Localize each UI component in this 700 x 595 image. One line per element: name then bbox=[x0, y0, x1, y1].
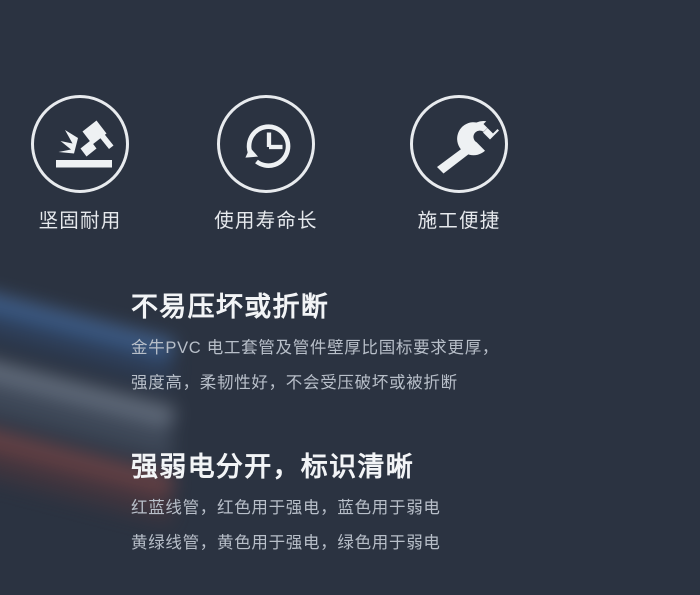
text-block-wire-separation: 强弱电分开，标识清晰 红蓝线管，红色用于强电，蓝色用于弱电 黄绿线管，黄色用于强… bbox=[131, 452, 651, 552]
feature-label: 施工便捷 bbox=[379, 212, 539, 232]
block-title: 强弱电分开，标识清晰 bbox=[131, 452, 651, 484]
feature-label: 使用寿命长 bbox=[186, 212, 346, 232]
feature-label: 坚固耐用 bbox=[0, 212, 160, 232]
clock-history-icon bbox=[217, 95, 315, 193]
block-body-line: 金牛PVC 电工套管及管件壁厚比国标要求更厚， bbox=[131, 340, 651, 357]
block-body-line: 红蓝线管，红色用于强电，蓝色用于弱电 bbox=[131, 500, 651, 517]
hammer-strike-icon bbox=[31, 95, 129, 193]
block-body-line: 强度高，柔韧性好，不会受压破坏或被折断 bbox=[131, 375, 651, 392]
block-title: 不易压坏或折断 bbox=[131, 292, 651, 324]
feature-item-easy-install: 施工便捷 bbox=[379, 95, 539, 232]
feature-item-lifespan: 使用寿命长 bbox=[186, 95, 346, 232]
wrench-icon bbox=[410, 95, 508, 193]
block-body-line: 黄绿线管，黄色用于强电，绿色用于弱电 bbox=[131, 535, 651, 552]
product-feature-banner: 坚固耐用 使用寿命长 bbox=[0, 0, 700, 595]
text-block-durability: 不易压坏或折断 金牛PVC 电工套管及管件壁厚比国标要求更厚， 强度高，柔韧性好… bbox=[131, 292, 651, 392]
feature-icon-row: 坚固耐用 使用寿命长 bbox=[0, 0, 700, 250]
feature-item-durable: 坚固耐用 bbox=[0, 95, 160, 232]
